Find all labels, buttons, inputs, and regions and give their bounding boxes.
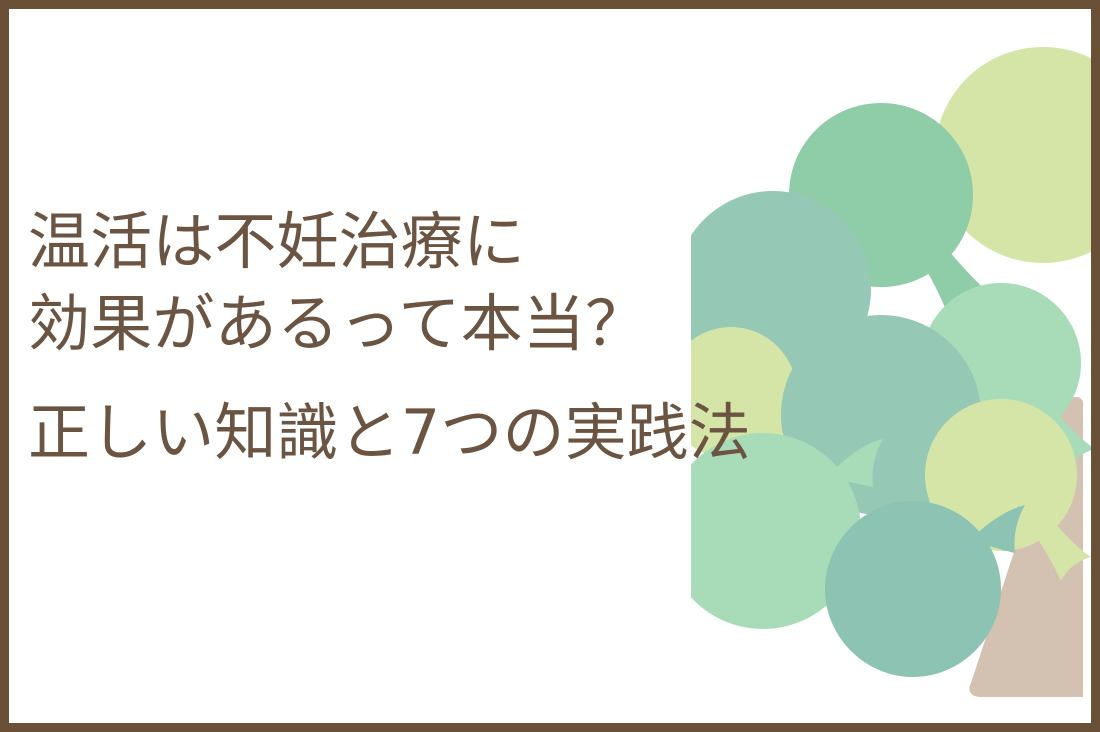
card-canvas: 温活は不妊治療に 効果があるって本当？ 正しい知識と7つの実践法 [9, 9, 1091, 723]
title-line-1: 温活は不妊治療に [28, 201, 928, 283]
title-block: 温活は不妊治療に 効果があるって本当？ 正しい知識と7つの実践法 [28, 201, 928, 474]
eyecatch-card: 温活は不妊治療に 効果があるって本当？ 正しい知識と7つの実践法 [0, 0, 1100, 732]
title-line-2: 効果があるって本当？ [28, 283, 928, 365]
title-line-3: 正しい知識と7つの実践法 [28, 392, 928, 474]
